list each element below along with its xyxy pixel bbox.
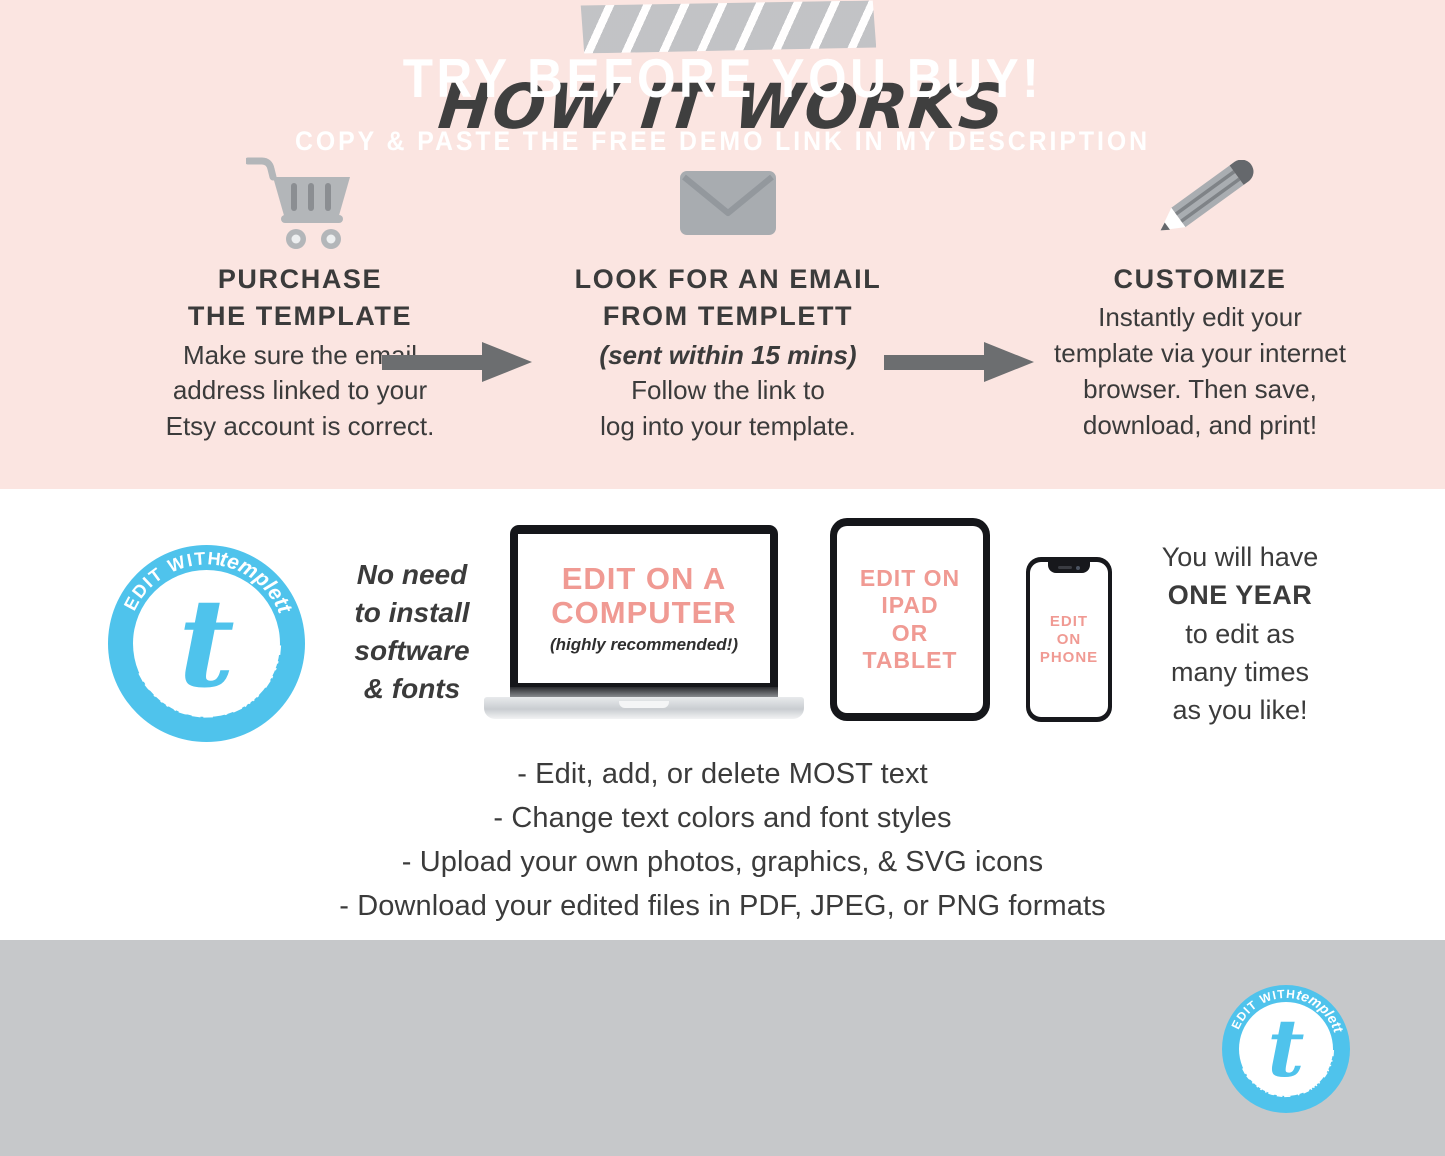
- laptop-note: (highly recommended!): [550, 635, 738, 655]
- features-list: - Edit, add, or delete MOST text - Chang…: [0, 752, 1445, 928]
- svg-text:templett: templett: [1295, 986, 1347, 1035]
- one-year-line1: You will have: [1125, 538, 1355, 576]
- list-item: - Upload your own photos, graphics, & SV…: [0, 840, 1445, 884]
- one-year-line2: to edit as: [1125, 615, 1355, 653]
- laptop-device: EDIT ON A COMPUTER (highly recommended!): [484, 525, 804, 730]
- svg-text:templett: templett: [218, 548, 297, 618]
- step-heading: LOOK FOR AN EMAIL FROM TEMPLETT: [518, 261, 938, 336]
- tablet-device: EDIT ON IPAD OR TABLET: [830, 518, 990, 721]
- step-heading-line1: CUSTOMIZE: [980, 261, 1420, 298]
- step-body-line2: template via your internet: [980, 336, 1420, 372]
- step-customize: CUSTOMIZE Instantly edit your template v…: [980, 150, 1420, 444]
- badge-bottom-arc: EDITABLE TEMPLATE: [134, 642, 285, 722]
- list-item: - Edit, add, or delete MOST text: [0, 752, 1445, 796]
- step-body-line3: log into your template.: [518, 409, 938, 445]
- step-look-for-email: LOOK FOR AN EMAIL FROM TEMPLETT (sent wi…: [518, 150, 938, 445]
- badge-brand: templett: [1295, 986, 1347, 1035]
- step-body-line3: Etsy account is correct.: [90, 409, 510, 445]
- phone-device: EDIT ON PHONE: [1026, 557, 1112, 722]
- step-body-line3: browser. Then save,: [980, 372, 1420, 408]
- badge-bottom-arc: EDITABLE TEMPLATE: [1239, 1048, 1337, 1100]
- badge-brand: templett: [218, 548, 297, 618]
- one-year-line3: many times: [1125, 653, 1355, 691]
- no-need-line4: & fonts: [332, 670, 492, 708]
- shopping-cart-icon: [90, 150, 510, 255]
- step-heading-line1: LOOK FOR AN EMAIL: [518, 261, 938, 298]
- laptop-text-line1: EDIT ON A: [551, 562, 736, 596]
- templett-badge: t EDIT WITH templett EDITABLE TEMPLATE: [108, 545, 305, 742]
- badge-arc-text: EDIT WITH templett EDITABLE TEMPLATE: [1222, 985, 1350, 1113]
- one-year-highlight: ONE YEAR: [1168, 580, 1313, 610]
- no-need-line1: No need: [332, 556, 492, 594]
- list-item: - Change text colors and font styles: [0, 796, 1445, 840]
- templett-badge: t EDIT WITH templett EDITABLE TEMPLATE: [1222, 985, 1350, 1113]
- badge-top-arc: EDIT WITH: [1229, 987, 1297, 1032]
- svg-text:EDIT WITH: EDIT WITH: [120, 548, 223, 613]
- no-need-line2: to install: [332, 594, 492, 632]
- no-need-text: No need to install software & fonts: [332, 556, 492, 708]
- laptop-lid: EDIT ON A COMPUTER (highly recommended!): [510, 525, 778, 693]
- phone-screen: EDIT ON PHONE: [1030, 562, 1108, 717]
- one-year-line4: as you like!: [1125, 691, 1355, 729]
- phone-text-line3: PHONE: [1040, 649, 1098, 667]
- arrow-right-icon: [382, 342, 532, 382]
- phone-notch-icon: [1048, 562, 1090, 573]
- svg-text:EDITABLE TEMPLATE: EDITABLE TEMPLATE: [134, 642, 285, 722]
- no-need-line3: software: [332, 632, 492, 670]
- tablet-text-line4: TABLET: [860, 647, 960, 674]
- badge-top-arc: EDIT WITH: [120, 548, 223, 613]
- phone-text-line1: EDIT: [1040, 613, 1098, 631]
- laptop-text-line2: COMPUTER: [551, 596, 736, 630]
- step-heading: PURCHASE THE TEMPLATE: [90, 261, 510, 336]
- tablet-screen: EDIT ON IPAD OR TABLET: [837, 526, 983, 713]
- step-heading-line2: THE TEMPLATE: [90, 298, 510, 335]
- arrow-right-icon: [884, 342, 1034, 382]
- step-body: Instantly edit your template via your in…: [980, 300, 1420, 444]
- one-year-text: You will have ONE YEAR to edit as many t…: [1125, 538, 1355, 730]
- laptop-trackpad-notch: [619, 701, 669, 708]
- list-item: - Download your edited files in PDF, JPE…: [0, 884, 1445, 928]
- step-body-line1: Instantly edit your: [980, 300, 1420, 336]
- badge-arc-text: EDIT WITH templett EDITABLE TEMPLATE: [108, 545, 305, 742]
- step-body-line4: download, and print!: [980, 408, 1420, 444]
- footer-subline: COPY & PASTE THE FREE DEMO LINK IN MY DE…: [58, 126, 1387, 157]
- step-body: (sent within 15 mins) Follow the link to…: [518, 338, 938, 446]
- steps-row: PURCHASE THE TEMPLATE Make sure the emai…: [0, 150, 1445, 460]
- svg-text:EDITABLE TEMPLATE: EDITABLE TEMPLATE: [1239, 1048, 1337, 1100]
- phone-text-line2: ON: [1040, 631, 1098, 649]
- step-heading: CUSTOMIZE: [980, 261, 1420, 298]
- step-heading-line1: PURCHASE: [90, 261, 510, 298]
- footer-headline: TRY BEFORE YOU BUY!: [72, 46, 1373, 110]
- laptop-screen: EDIT ON A COMPUTER (highly recommended!): [518, 534, 770, 683]
- step-body-line2: Follow the link to: [518, 373, 938, 409]
- step-heading-line2: FROM TEMPLETT: [518, 298, 938, 335]
- tablet-text-line2: IPAD: [860, 592, 960, 619]
- pencil-icon: [980, 150, 1420, 255]
- tablet-text-line3: OR: [860, 620, 960, 647]
- envelope-icon: [518, 150, 938, 255]
- svg-text:EDIT WITH: EDIT WITH: [1229, 987, 1297, 1032]
- tablet-text-line1: EDIT ON: [860, 565, 960, 592]
- step-body-line1: (sent within 15 mins): [518, 338, 938, 374]
- step-purchase: PURCHASE THE TEMPLATE Make sure the emai…: [90, 150, 510, 445]
